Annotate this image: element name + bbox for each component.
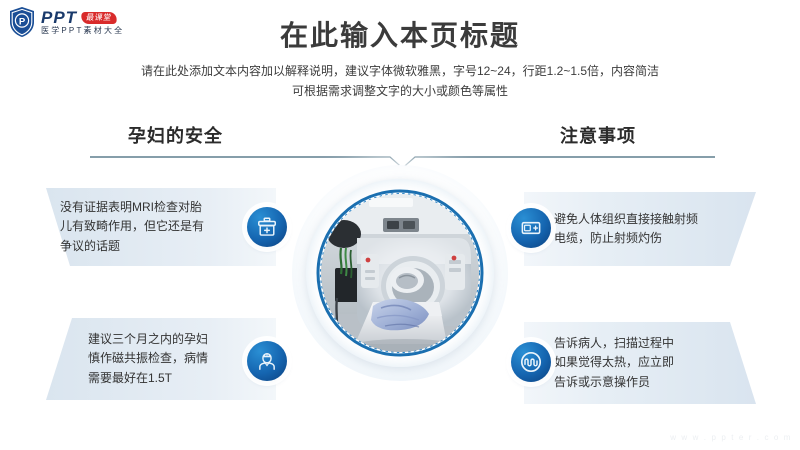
info-panel-bottom-right: 告诉病人，扫描过程中 如果觉得太热，应立即 告诉或示意操作员	[524, 322, 774, 404]
info-panel-bottom-left: 建议三个月之内的孕妇 慎作磁共振检查，病情 需要最好在1.5T	[28, 318, 276, 400]
slide-root: P PPT 最课堂 医学PPT素材大全 在此输入本页标题 请在此处添加文本内容加…	[0, 0, 800, 450]
page-title: 在此输入本页标题	[0, 14, 800, 54]
panel-line-2: 儿有致畸作用，但它还是有	[60, 217, 204, 236]
panel-line-3: 告诉或示意操作员	[554, 373, 674, 392]
panel-text-top-right: 避免人体组织直接接触射频 电缆，防止射频灼伤	[554, 210, 698, 249]
panel-line-1: 告诉病人，扫描过程中	[554, 334, 674, 353]
subtitle-line-2: 可根据需求调整文字的大小或颜色等属性	[0, 82, 800, 102]
panel-line-3: 争议的话题	[60, 237, 204, 256]
info-panel-top-right: 避免人体组织直接接触射频 电缆，防止射频灼伤	[524, 192, 774, 266]
doctor-person-icon[interactable]	[247, 341, 287, 381]
panel-text-bottom-left: 建议三个月之内的孕妇 慎作磁共振检查，病情 需要最好在1.5T	[88, 330, 208, 388]
waveform-circle-icon[interactable]	[511, 342, 551, 382]
panel-line-1: 建议三个月之内的孕妇	[88, 330, 208, 349]
panel-line-2: 如果觉得太热，应立即	[554, 353, 674, 372]
monitor-panel-icon[interactable]	[511, 208, 551, 248]
center-image-medallion	[292, 165, 508, 381]
subtitle-line-1: 请在此处添加文本内容加以解释说明，建议字体微软雅黑，字号12~24，行距1.2~…	[0, 62, 800, 82]
panel-line-2: 慎作磁共振检查，病情	[88, 349, 208, 368]
section-heading-right: 注意事项	[560, 122, 636, 148]
panel-line-1: 没有证据表明MRI检查对胎	[60, 198, 204, 217]
first-aid-kit-icon[interactable]	[247, 207, 287, 247]
mri-scanner-photo	[321, 194, 479, 352]
panel-text-bottom-right: 告诉病人，扫描过程中 如果觉得太热，应立即 告诉或示意操作员	[554, 334, 674, 392]
section-heading-left: 孕妇的安全	[128, 122, 223, 148]
panel-line-2: 电缆，防止射频灼伤	[554, 229, 698, 248]
site-watermark: w w w . p p t e r . c o m	[670, 433, 792, 442]
panel-line-3: 需要最好在1.5T	[88, 369, 208, 388]
panel-line-1: 避免人体组织直接接触射频	[554, 210, 698, 229]
info-panel-top-left: 没有证据表明MRI检查对胎 儿有致畸作用，但它还是有 争议的话题	[28, 188, 276, 266]
panel-text-top-left: 没有证据表明MRI检查对胎 儿有致畸作用，但它还是有 争议的话题	[60, 198, 204, 256]
page-subtitle: 请在此处添加文本内容加以解释说明，建议字体微软雅黑，字号12~24，行距1.2~…	[0, 62, 800, 102]
